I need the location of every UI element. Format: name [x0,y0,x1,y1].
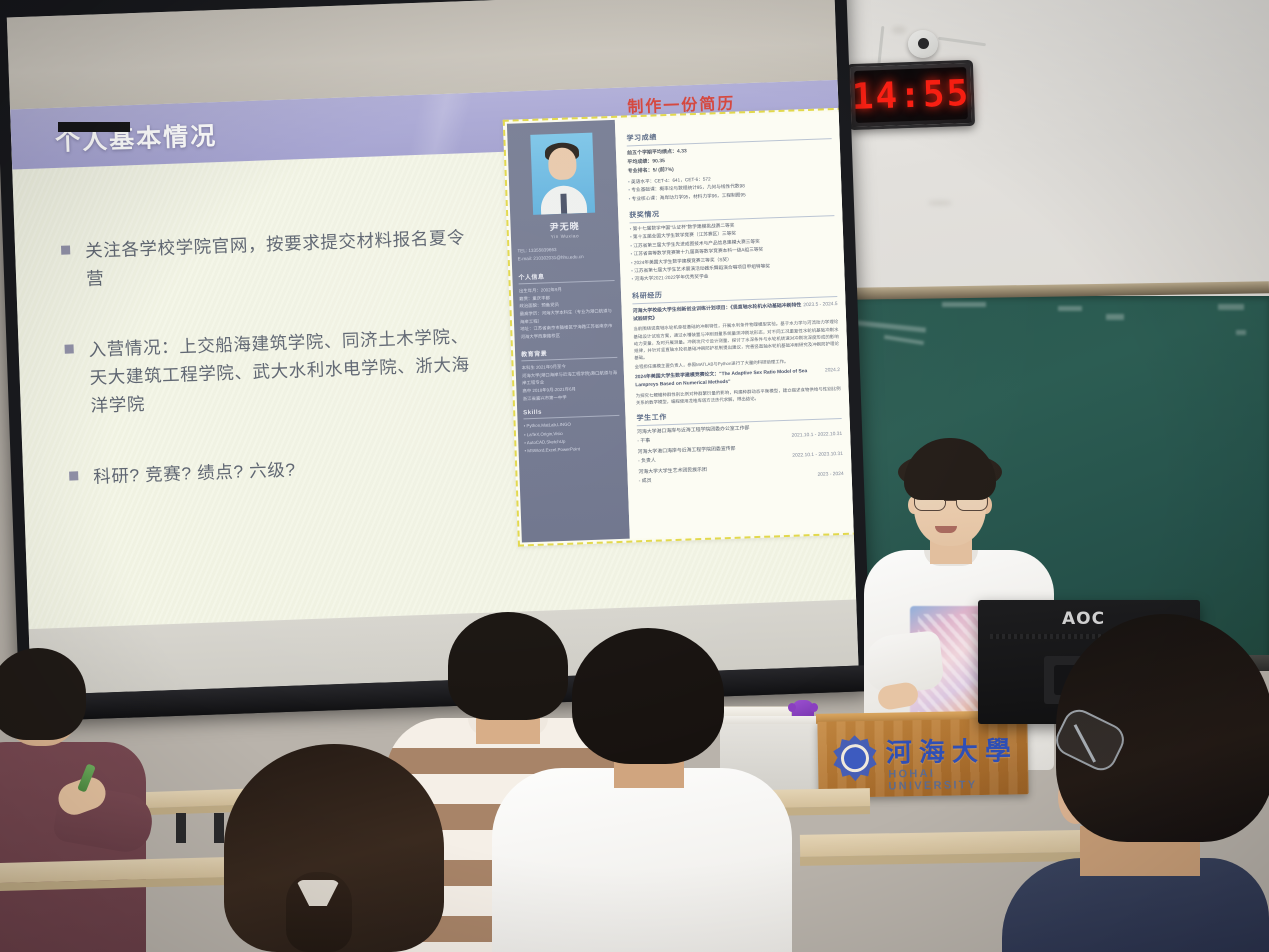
bullet-square-icon [65,344,74,353]
resume-right-column: 学习成绩 前五个学期平均绩点：4.33 平均成绩：90.35 专业排名：5/ (… [615,112,855,539]
presentation-slide: 个人基本情况 关注各学校学院官网，按要求提交材料报名夏令营 入营情况：上交船海建… [10,80,856,629]
resume-project-body: 当前围绕竖直轴水轮机单桩基础的冲刷特性，开展水利条件物理模型实验。基于水力学与河… [633,318,839,362]
desk-leg [214,813,224,843]
bullet-item: 关注各学校学院官网，按要求提交材料报名夏令营 [61,223,483,295]
monitor-stand [58,122,130,132]
bullet-text: 科研? 竞赛? 绩点? 六级? [93,455,296,491]
plaque-name-cn: 河海大學 [886,730,1019,769]
bullet-text: 关注各学校学院官网，按要求提交材料报名夏令营 [85,223,483,294]
resume-section-title: 个人信息 [518,269,614,284]
digital-wall-clock: 14:55 [847,60,975,130]
bullet-square-icon [61,245,70,254]
desk-leg [176,813,186,843]
resume-skill-list: Python,MatLab,LINGO LaTeX,Origin,Visio A… [524,419,621,455]
bullet-item: 入营情况：上交船海建筑学院、同济土木学院、天大建筑工程学院、武大水利水电学院、浙… [64,321,487,421]
resume-section-body: 出生年月：2002年9月 籍贯：重庆丰都 政治面貌：预备党员 最高学历：河海大学… [519,284,617,341]
resume-award-list: 第十七届数学中国"认证杯"数学建模挑战赛二等奖 第十五届全国大学生数学竞赛（江苏… [630,218,837,284]
resume-course-list: 英语水平：CET-4：641，CET-6：572 专业基础课：概率论与数理统计9… [628,171,834,203]
bullet-text: 入营情况：上交船海建筑学院、同济土木学院、天大建筑工程学院、武大水利水电学院、浙… [88,321,487,420]
bullet-square-icon [69,471,78,480]
screen-surface: 个人基本情况 关注各学校学院官网，按要求提交材料报名夏令营 入营情况：上交船海建… [7,0,859,695]
resume-image: 尹无晓 Yin Wuxiao TEL: 13355839663 E-mail: … [503,108,856,547]
classroom-scene: 14:55 个人基本情况 关注各学校学院官网，按要求提交材料报名夏令营 [0,0,1269,952]
clock-time: 14:55 [851,72,971,117]
resume-contact: TEL: 13355839663 E-mail: 210302031@hhu.e… [517,244,614,264]
monitor-brand-logo: AOC [1062,609,1105,629]
resume-work-item: 河海大学大学生艺术团民族乐团 2023 - 2024- 成员 [638,462,843,486]
resume-photo [530,133,595,215]
projector-screen: 个人基本情况 关注各学校学院官网，按要求提交材料报名夏令营 入营情况：上交船海建… [0,0,871,722]
resume-section-title: 教育背景 [521,346,617,361]
presenter-hair [904,438,996,500]
resume-section-title: Skills [523,407,619,419]
resume-section-body: 本科生 2021年9月至今 河海大学(港口海岸与近海工程学院)港口航道与海岸工程… [522,361,619,403]
ceiling-camera-icon [908,30,938,58]
university-plaque: 河海大學 HOHAI UNIVERSITY [817,718,1028,798]
plaque-name-en: HOHAI UNIVERSITY [888,766,1028,792]
presenter-mouth [935,526,957,533]
slide-bullet-list: 关注各学校学院官网，按要求提交材料报名夏令营 入营情况：上交船海建筑学院、同济土… [61,223,491,534]
university-emblem-icon [832,735,879,782]
bullet-item: 科研? 竞赛? 绩点? 六级? [69,448,490,491]
clock-face: 14:55 [854,67,968,123]
resume-left-column: 尹无晓 Yin Wuxiao TEL: 13355839663 E-mail: … [507,120,630,543]
